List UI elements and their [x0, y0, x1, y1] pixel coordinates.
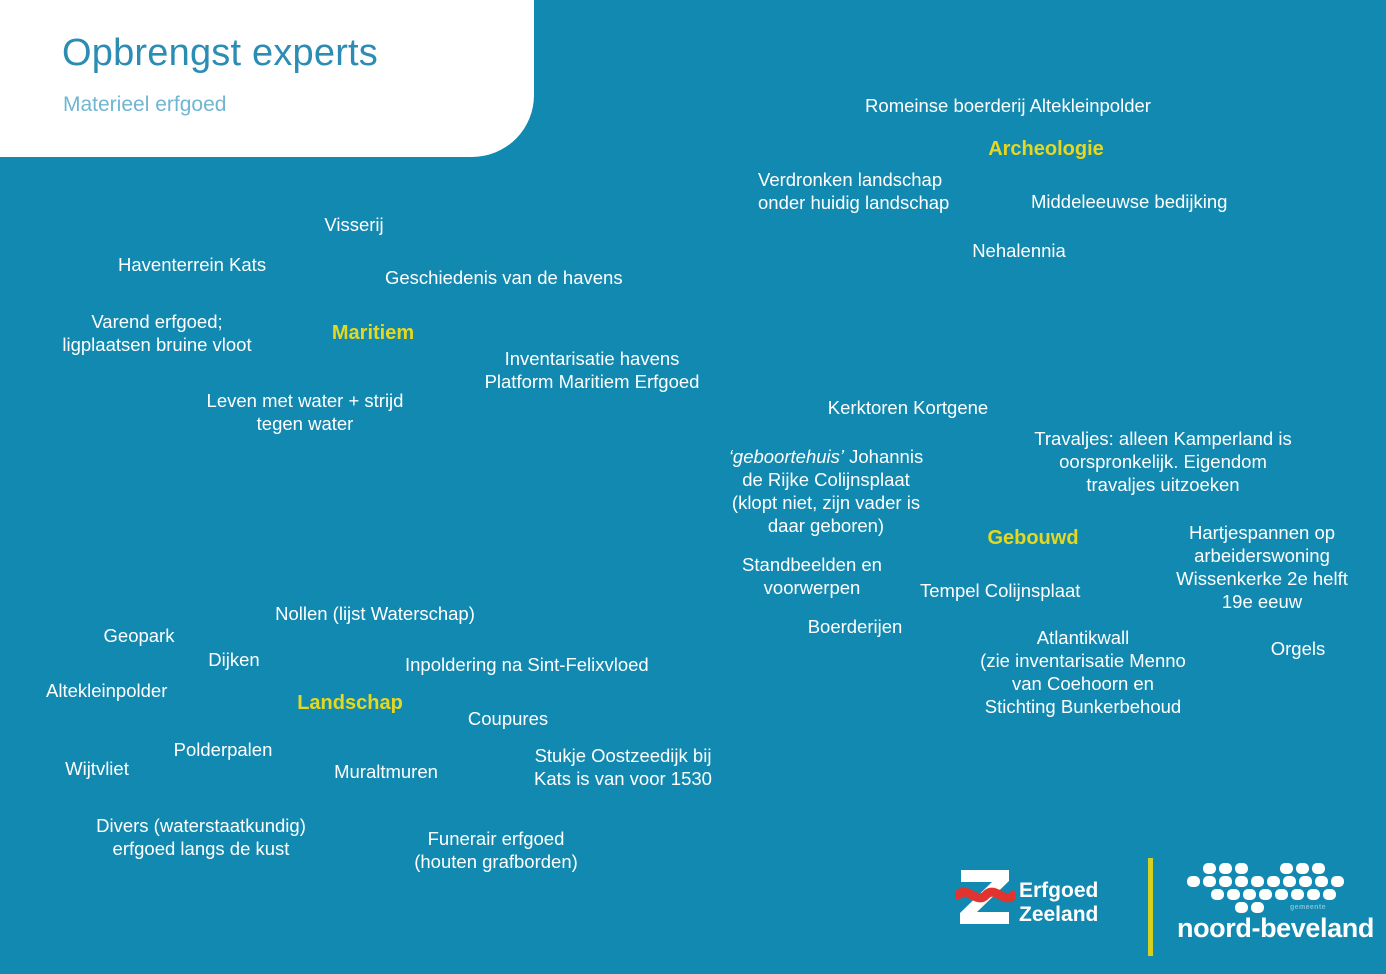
cloud-item-visserij: Visserij — [272, 213, 436, 236]
noord-beveland-logo: gemeente noord-beveland — [1177, 861, 1377, 951]
slide-canvas: Opbrengst experts Materieel erfgoed Rome… — [0, 0, 1386, 974]
cloud-item-leven-met-water: Leven met water + strijd tegen water — [189, 389, 421, 435]
noord-beveland-gemeente-label: gemeente — [1290, 904, 1326, 911]
cloud-item-divers-waterstaatkundig: Divers (waterstaatkundig) erfgoed langs … — [78, 814, 324, 860]
category-label-maritiem: Maritiem — [290, 321, 456, 346]
cloud-item-stukje-oostzeedijk: Stukje Oostzeedijk bij Kats is van voor … — [518, 744, 728, 790]
cloud-item-geopark: Geopark — [93, 624, 185, 647]
cloud-item-geschiedenis-havens: Geschiedenis van de havens — [385, 266, 685, 289]
erfgoed-zeeland-z-icon — [955, 863, 1015, 933]
cloud-item-tempel-colijnsplaat: Tempel Colijnsplaat — [920, 579, 1140, 602]
cloud-item-haventerrein-kats: Haventerrein Kats — [118, 253, 348, 276]
noord-beveland-name: noord-beveland — [1177, 913, 1374, 944]
cloud-item-dijken: Dijken — [202, 648, 266, 671]
cloud-item-boerderijen: Boerderijen — [792, 615, 918, 638]
cloud-item-wijtvliet: Wijtvliet — [57, 757, 137, 780]
cloud-item-inpoldering: Inpoldering na Sint-Felixvloed — [405, 653, 705, 676]
title-card: Opbrengst experts Materieel erfgoed — [0, 0, 534, 157]
cloud-item-nehalennia: Nehalennia — [918, 239, 1120, 262]
cloud-item-orgels: Orgels — [1258, 637, 1338, 660]
cloud-item-nollen: Nollen (lijst Waterschap) — [257, 602, 493, 625]
category-label-gebouwd: Gebouwd — [952, 526, 1114, 551]
cloud-item-romeinse-boerderij: Romeinse boerderij Altekleinpolder — [840, 94, 1176, 117]
erfgoed-zeeland-logo: Erfgoed Zeeland — [955, 863, 1130, 941]
category-label-archeologie: Archeologie — [936, 137, 1156, 162]
cloud-item-geboortehuis-italic: ‘geboortehuis’ — [729, 446, 844, 467]
cloud-item-middeleeuwse-bedijking: Middeleeuwse bedijking — [1031, 190, 1281, 213]
cloud-item-geboortehuis: ‘geboortehuis’ Johannis de Rijke Colijns… — [709, 445, 943, 538]
cloud-item-funerair-erfgoed: Funerair erfgoed (houten grafborden) — [398, 827, 594, 873]
cloud-item-hartjespannen: Hartjespannen op arbeiderswoning Wissenk… — [1164, 521, 1360, 614]
logo-divider — [1148, 858, 1153, 956]
cloud-item-verdronken-landschap: Verdronken landschap onder huidig landsc… — [758, 168, 1008, 214]
cloud-item-travaljes: Travaljes: alleen Kamperland is oorspron… — [1013, 427, 1313, 496]
cloud-item-standbeelden: Standbeelden en voorwerpen — [728, 553, 896, 599]
cloud-item-coupures: Coupures — [461, 707, 555, 730]
page-title: Opbrengst experts — [62, 32, 378, 75]
footer-logos: Erfgoed Zeeland — [955, 855, 1375, 965]
cloud-item-polderpalen: Polderpalen — [164, 738, 282, 761]
erfgoed-zeeland-name: Erfgoed Zeeland — [1019, 879, 1098, 926]
noord-beveland-map-dots-icon — [1185, 861, 1355, 913]
cloud-item-muraltmuren: Muraltmuren — [323, 760, 449, 783]
page-subtitle: Materieel erfgoed — [63, 93, 226, 117]
cloud-item-altekleinpolder: Altekleinpolder — [46, 679, 206, 702]
cloud-item-inventarisatie-havens: Inventarisatie havens Platform Maritiem … — [466, 347, 718, 393]
cloud-item-kerktoren-kortgene: Kerktoren Kortgene — [808, 396, 1008, 419]
category-label-landschap: Landschap — [286, 691, 414, 716]
cloud-item-atlantikwall: Atlantikwall (zie inventarisatie Menno v… — [957, 626, 1209, 719]
cloud-item-varend-erfgoed: Varend erfgoed; ligplaatsen bruine vloot — [43, 310, 271, 356]
